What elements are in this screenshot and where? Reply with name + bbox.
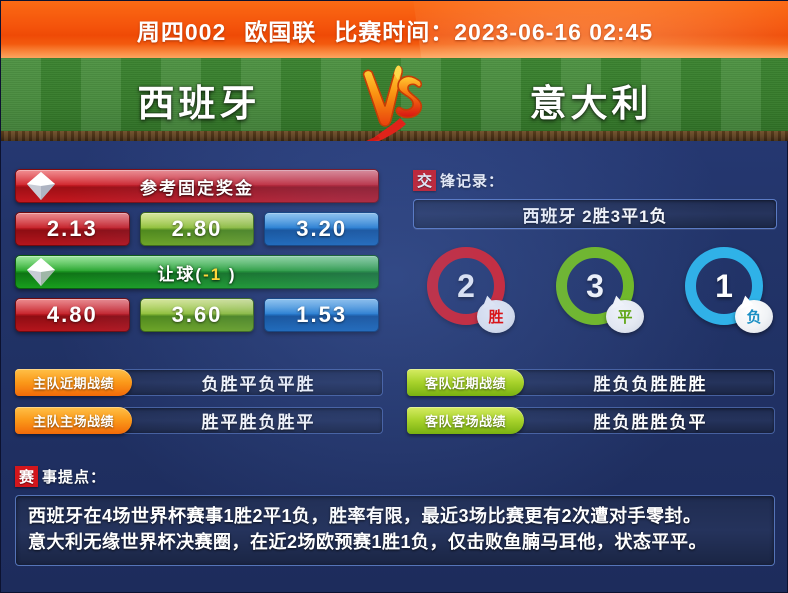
fixed-odds-row: 2.13 2.80 3.20 <box>15 212 379 246</box>
fixed-odds-title: 参考固定奖金 <box>140 174 254 199</box>
h2h-ring-win: 2 胜 <box>427 247 505 325</box>
form-value: 胜平胜负胜平 <box>122 407 383 434</box>
form-value: 胜负负胜胜胜 <box>514 369 775 396</box>
odds-value: 2.80 <box>172 216 223 242</box>
odds-value: 3.20 <box>296 216 347 242</box>
h2h-ring-loss: 1 负 <box>685 247 763 325</box>
odds-value: 2.13 <box>47 216 98 242</box>
h2h-ring-draw: 3 平 <box>556 247 634 325</box>
handicap-title-bar: 让球(-1 ) <box>15 255 379 289</box>
h2h-panel: 交 锋记录： 西班牙 2胜3平1负 2 胜 3 平 <box>413 169 777 325</box>
match-number: 周四002 <box>137 13 226 47</box>
tips-section-header: 赛 事提点： <box>15 465 775 487</box>
ring-value: 3 <box>586 270 604 302</box>
teams-row: 西班牙 <box>1 58 788 141</box>
form-tag-label: 主队主场战绩 <box>15 407 132 434</box>
form-row-home-recent: 主队近期战绩 负胜平负平胜 <box>15 369 383 396</box>
header-text: 周四002 欧国联 比赛时间：2023-06-16 02:45 <box>1 1 788 58</box>
odds-value: 3.60 <box>172 302 223 328</box>
form-row-home-home: 主队主场战绩 胜平胜负胜平 <box>15 407 383 434</box>
diamond-gem-icon <box>24 255 58 289</box>
tips-badge-icon: 赛 <box>15 466 38 487</box>
ring-tag-badge: 平 <box>606 300 644 333</box>
vs-flame-icon <box>358 62 432 142</box>
pitch-banner: 西班牙 <box>1 58 788 141</box>
away-form-list: 客队近期战绩 胜负负胜胜胜 客队客场战绩 胜负胜胜负平 <box>407 369 775 445</box>
kickoff-time: 比赛时间：2023-06-16 02:45 <box>334 13 653 47</box>
away-team-name: 意大利 <box>441 73 741 127</box>
home-team-name: 西班牙 <box>49 73 349 127</box>
home-form-list: 主队近期战绩 负胜平负平胜 主队主场战绩 胜平胜负胜平 <box>15 369 383 445</box>
odds-button-home-fixed[interactable]: 2.13 <box>15 212 130 246</box>
header-bar: 周四002 欧国联 比赛时间：2023-06-16 02:45 <box>1 1 788 58</box>
fixed-odds-title-bar: 参考固定奖金 <box>15 169 379 203</box>
ring-value: 1 <box>715 270 733 302</box>
form-value: 胜负胜胜负平 <box>514 407 775 434</box>
form-row-away-recent: 客队近期战绩 胜负负胜胜胜 <box>407 369 775 396</box>
odds-button-away-fixed[interactable]: 3.20 <box>264 212 379 246</box>
odds-value: 1.53 <box>296 302 347 328</box>
h2h-section-header: 交 锋记录： <box>413 169 777 191</box>
form-row-away-away: 客队客场战绩 胜负胜胜负平 <box>407 407 775 434</box>
h2h-badge-icon: 交 <box>413 170 436 191</box>
tips-line: 意大利无缘世界杯决赛圈，在近2场欧预赛1胜1负，仅击败鱼腩马耳他，状态平平。 <box>28 530 762 556</box>
tips-panel: 赛 事提点： 西班牙在4场世界杯赛事1胜2平1负，胜率有限，最近3场比赛更有2次… <box>15 465 775 566</box>
h2h-rings: 2 胜 3 平 1 负 <box>413 247 777 325</box>
form-tag-label: 客队客场战绩 <box>407 407 524 434</box>
league-name: 欧国联 <box>244 13 316 47</box>
ring-value: 2 <box>457 270 475 302</box>
odds-panel: 参考固定奖金 2.13 2.80 3.20 让球(-1 ) <box>15 169 379 332</box>
handicap-suffix: ) <box>222 265 236 284</box>
handicap-odds-row: 4.80 3.60 1.53 <box>15 298 379 332</box>
odds-button-away-handicap[interactable]: 1.53 <box>264 298 379 332</box>
tips-section-title: 事提点： <box>42 466 106 487</box>
handicap-prefix: 让球( <box>157 265 203 284</box>
odds-button-home-handicap[interactable]: 4.80 <box>15 298 130 332</box>
h2h-section-title: 锋记录： <box>440 170 504 191</box>
ring-tag-label: 负 <box>746 306 761 327</box>
handicap-value: -1 <box>203 265 222 284</box>
handicap-title: 让球(-1 ) <box>157 260 236 285</box>
diamond-gem-icon <box>24 169 58 203</box>
form-tag-label: 客队近期战绩 <box>407 369 524 396</box>
h2h-summary: 西班牙 2胜3平1负 <box>413 199 777 229</box>
ring-tag-label: 平 <box>617 306 632 327</box>
odds-value: 4.80 <box>47 302 98 328</box>
form-value: 负胜平负平胜 <box>122 369 383 396</box>
tips-content-box: 西班牙在4场世界杯赛事1胜2平1负，胜率有限，最近3场比赛更有2次遭对手零封。 … <box>15 495 775 566</box>
match-preview-page: 周四002 欧国联 比赛时间：2023-06-16 02:45 西班牙 <box>0 0 788 593</box>
odds-button-draw-handicap[interactable]: 3.60 <box>140 298 255 332</box>
vs-container <box>349 58 441 141</box>
odds-button-draw-fixed[interactable]: 2.80 <box>140 212 255 246</box>
tips-line: 西班牙在4场世界杯赛事1胜2平1负，胜率有限，最近3场比赛更有2次遭对手零封。 <box>28 504 762 530</box>
form-tag-label: 主队近期战绩 <box>15 369 132 396</box>
ring-tag-label: 胜 <box>488 306 503 327</box>
ring-tag-badge: 胜 <box>477 300 515 333</box>
ring-tag-badge: 负 <box>735 300 773 333</box>
